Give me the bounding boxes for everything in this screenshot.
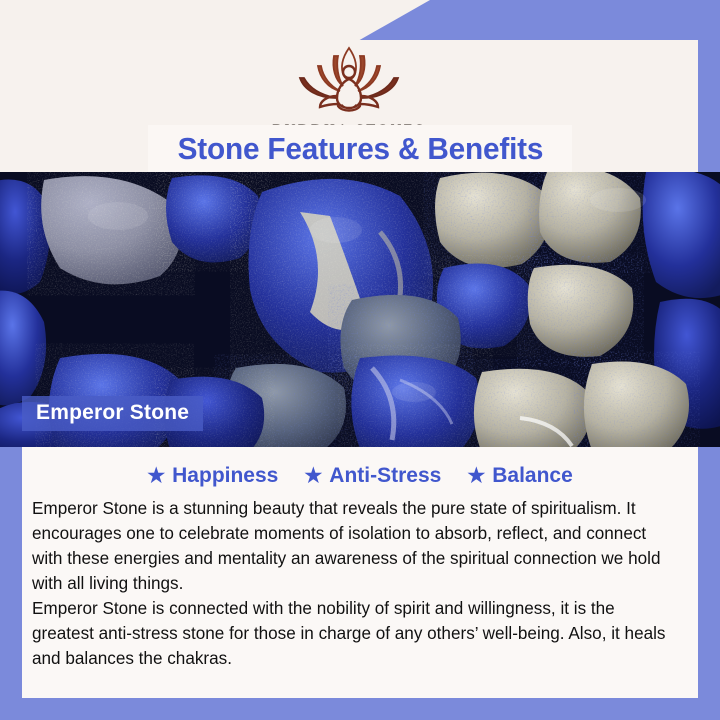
star-icon: ★ [467,466,485,486]
frame-bottom-bar [0,698,720,720]
title-plate: Stone Features & Benefits [148,125,572,172]
description-paragraph-1: Emperor Stone is a stunning beauty that … [32,496,680,596]
stone-name-label: Emperor Stone [22,396,203,431]
benefits-list: ★ Happiness ★ Anti-Stress ★ Balance [22,464,698,488]
benefit-item-anti-stress: ★ Anti-Stress [304,464,441,488]
stone-photo: Emperor Stone [0,172,720,447]
benefit-label: Anti-Stress [329,464,441,488]
benefit-item-balance: ★ Balance [467,464,572,488]
star-icon: ★ [147,466,165,486]
benefit-label: Happiness [172,464,278,488]
poster-root: BUDDHA STONES Stone Features & Benefits [0,0,720,720]
description-paragraph-2: Emperor Stone is connected with the nobi… [32,596,680,671]
star-icon: ★ [304,466,322,486]
benefit-item-happiness: ★ Happiness [147,464,278,488]
description-panel: ★ Happiness ★ Anti-Stress ★ Balance Empe… [22,447,698,698]
page-title: Stone Features & Benefits [177,131,543,167]
benefit-label: Balance [492,464,573,488]
frame-left-bar [0,447,22,720]
lotus-meditation-icon [274,42,424,120]
description-body: Emperor Stone is a stunning beauty that … [22,496,698,671]
